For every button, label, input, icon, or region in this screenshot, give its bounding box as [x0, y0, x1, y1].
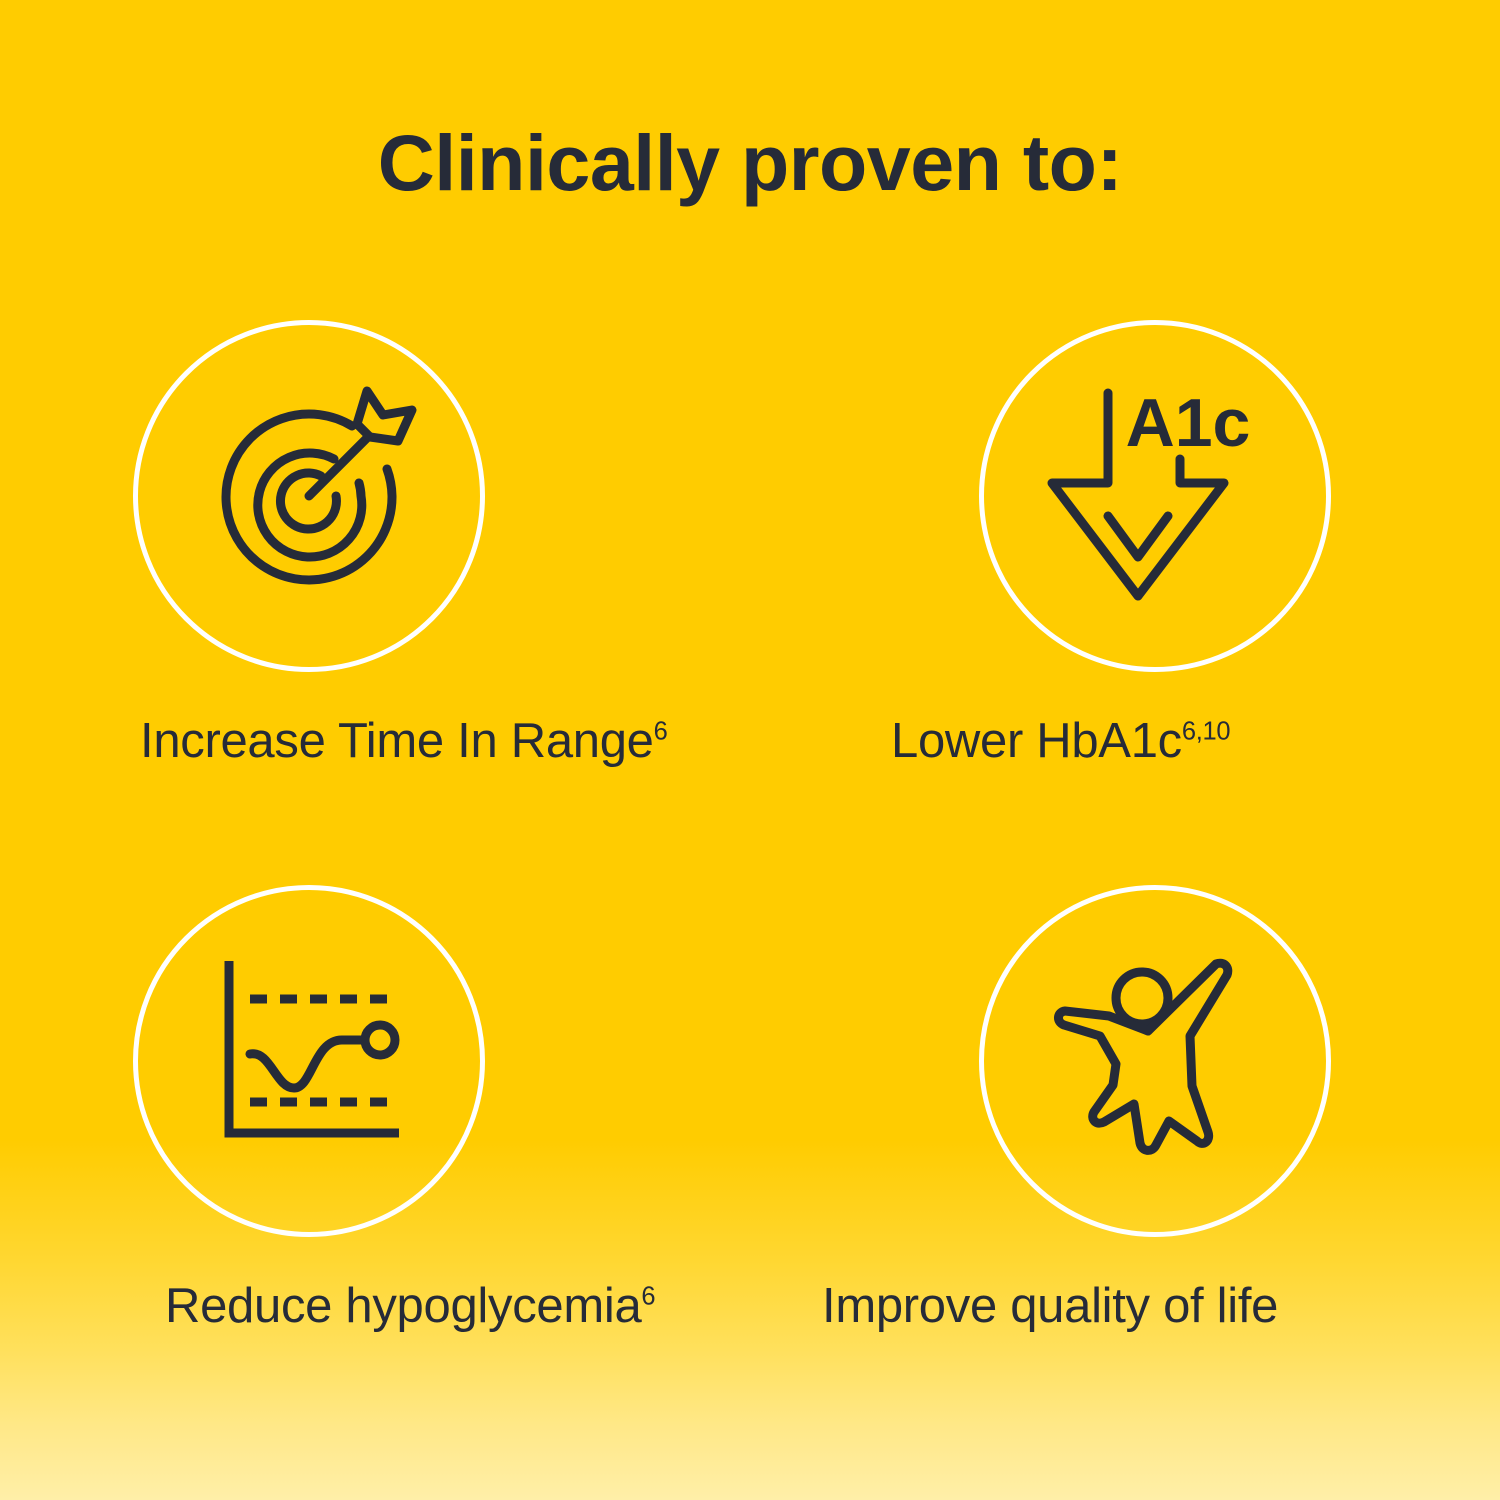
- jumping-person-icon: [1030, 936, 1280, 1186]
- icon-ring: A1c: [979, 320, 1331, 672]
- benefit-label-superscript: 6: [641, 1283, 655, 1311]
- trend-endpoint-dot: [365, 1025, 395, 1055]
- benefit-label-superscript: 6: [654, 718, 668, 746]
- benefit-label-superscript: 6,10: [1182, 718, 1230, 746]
- target-arrow-icon: [184, 371, 434, 621]
- benefit-row: Increase Time In Range6 A1c: [0, 300, 1500, 865]
- benefit-item-quality-of-life: Improve quality of life: [750, 865, 1500, 1430]
- benefit-item-time-in-range: Increase Time In Range6: [0, 300, 750, 865]
- clinically-proven-poster: Clinically proven to:: [0, 0, 1500, 1500]
- benefit-label-text: Increase Time In Range: [140, 714, 654, 768]
- benefit-label-quality-of-life: Improve quality of life: [750, 1280, 1500, 1334]
- benefit-label-text: Improve quality of life: [822, 1279, 1278, 1333]
- benefit-label-time-in-range: Increase Time In Range6: [0, 715, 750, 769]
- glucose-trend-chart-icon: [184, 936, 434, 1186]
- benefit-label-text: Reduce hypoglycemia: [165, 1279, 641, 1333]
- benefit-item-lower-hba1c: A1c Lower HbA1c6,10: [750, 300, 1500, 865]
- page-title: Clinically proven to:: [0, 122, 1500, 205]
- icon-ring: [133, 320, 485, 672]
- a1c-down-arrow-icon: A1c: [1030, 371, 1280, 621]
- benefit-row: Reduce hypoglycemia6 Imp: [0, 865, 1500, 1430]
- benefit-label-lower-hba1c: Lower HbA1c6,10: [750, 715, 1500, 769]
- benefit-label-text: Lower HbA1c: [891, 714, 1182, 768]
- a1c-icon-text: A1c: [1126, 385, 1251, 461]
- benefit-label-reduce-hypoglycemia: Reduce hypoglycemia6: [0, 1280, 750, 1334]
- icon-ring: [133, 885, 485, 1237]
- benefit-item-reduce-hypoglycemia: Reduce hypoglycemia6: [0, 865, 750, 1430]
- benefit-grid: Increase Time In Range6 A1c: [0, 300, 1500, 1430]
- icon-ring: [979, 885, 1331, 1237]
